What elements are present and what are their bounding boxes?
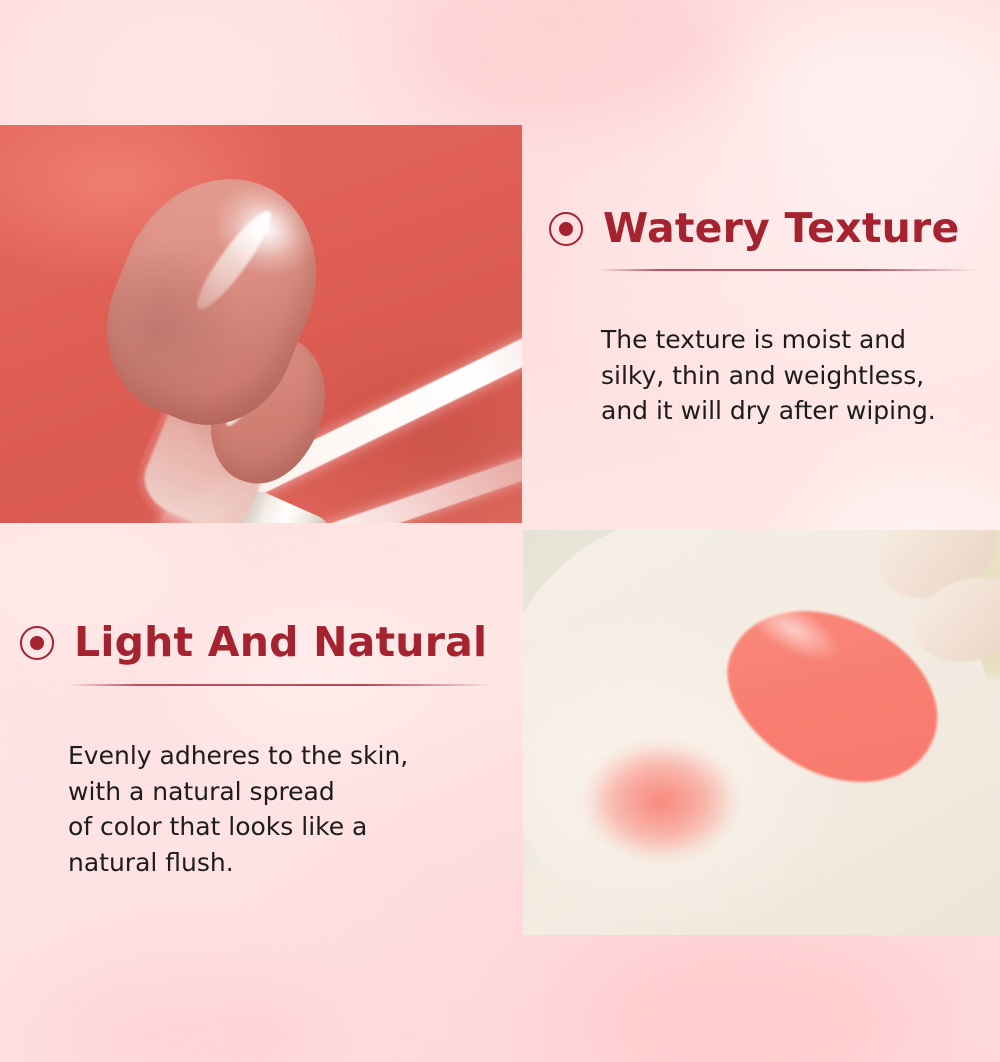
- heading-divider: [598, 269, 978, 271]
- product-feature-page: Watery Texture The texture is moist and …: [0, 0, 1000, 1062]
- filled-circle-bullet-icon: [549, 212, 583, 246]
- feature-title: Light And Natural: [74, 622, 487, 663]
- feature-body-watery-texture: The texture is moist and silky, thin and…: [601, 322, 936, 429]
- heading-divider: [68, 684, 496, 686]
- hand-swatch-photo: [523, 530, 1000, 935]
- feature-title: Watery Texture: [603, 208, 959, 249]
- applicator-photo: [0, 125, 522, 523]
- filled-circle-bullet-icon: [20, 626, 54, 660]
- feature-heading-light-and-natural: Light And Natural: [20, 622, 487, 663]
- feature-heading-watery-texture: Watery Texture: [549, 208, 959, 249]
- feature-body-light-and-natural: Evenly adheres to the skin, with a natur…: [68, 738, 408, 880]
- blended-swatch: [561, 724, 761, 878]
